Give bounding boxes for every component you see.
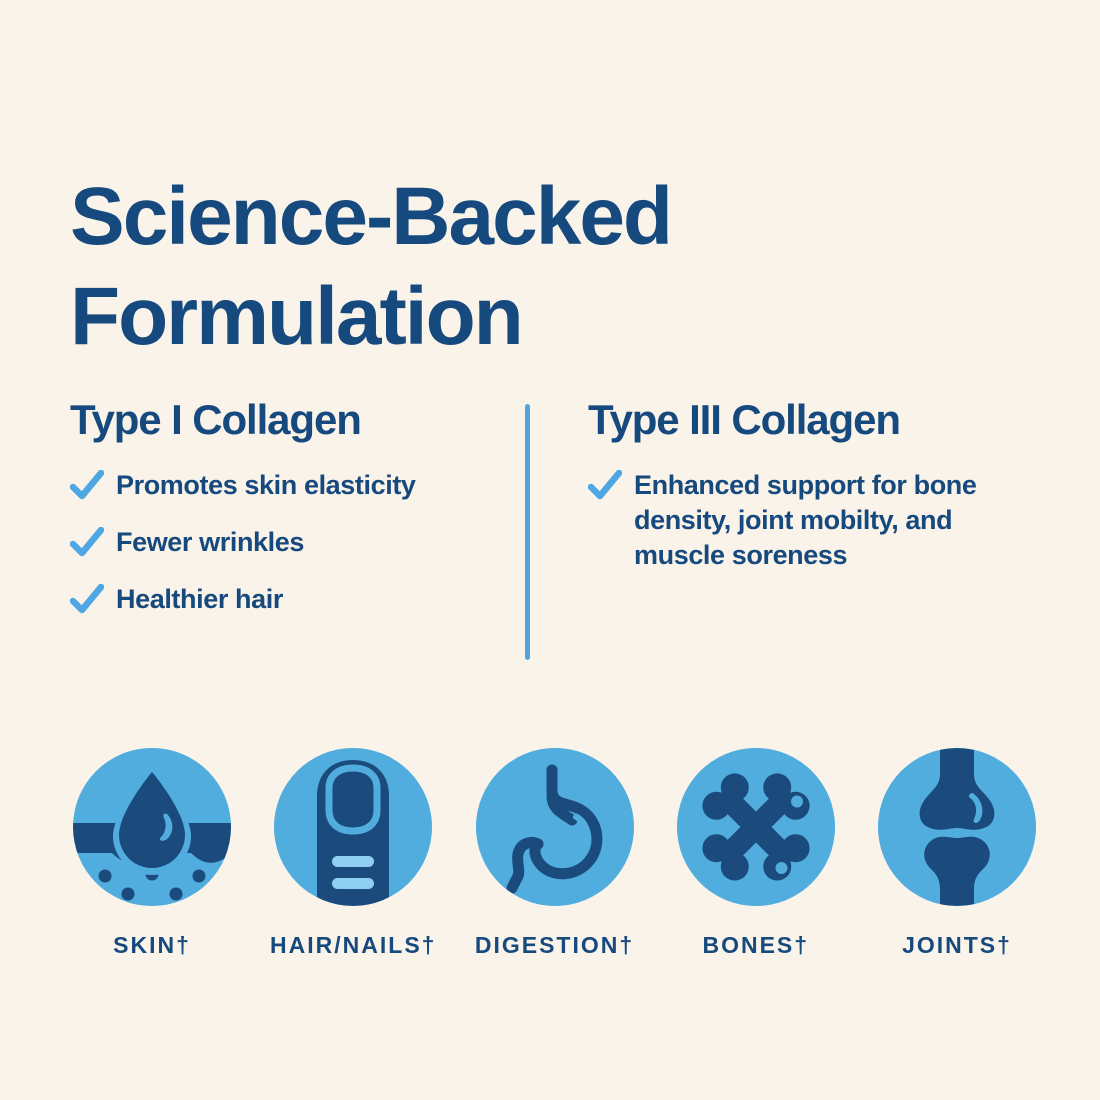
check-icon — [70, 470, 104, 502]
crossed-bones-icon — [677, 748, 835, 906]
benefit-label-bones: BONES† — [702, 932, 809, 959]
benefit-text: Healthier hair — [116, 582, 283, 617]
list-item: Fewer wrinkles — [70, 525, 507, 560]
page-title: Science-Backed Formulation — [70, 167, 950, 367]
fingernail-icon — [274, 748, 432, 906]
skin-droplet-icon — [73, 748, 231, 906]
column-heading-type-i: Type I Collagen — [70, 398, 507, 442]
benefit-text: Enhanced support for bone density, joint… — [634, 468, 994, 573]
list-item: Enhanced support for bone density, joint… — [588, 468, 1045, 573]
benefit-joints: JOINTS† — [867, 748, 1047, 959]
infographic-poster: Science-Backed Formulation Type I Collag… — [0, 0, 1100, 1100]
stomach-icon — [476, 748, 634, 906]
benefit-icon-row: SKIN† — [62, 748, 1047, 959]
check-icon — [70, 584, 104, 616]
knee-joint-icon — [878, 748, 1036, 906]
column-type-iii: Type III Collagen Enhanced support for b… — [530, 398, 1045, 666]
benefit-label-hair-nails: HAIR/NAILS† — [270, 932, 436, 959]
check-icon — [588, 470, 622, 502]
benefit-digestion: DIGESTION† — [465, 748, 645, 959]
benefit-text: Fewer wrinkles — [116, 525, 304, 560]
check-icon — [70, 527, 104, 559]
column-heading-type-iii: Type III Collagen — [588, 398, 1045, 442]
list-item: Healthier hair — [70, 582, 507, 617]
benefit-list-type-i: Promotes skin elasticity Fewer wrinkles — [70, 468, 507, 617]
list-item: Promotes skin elasticity — [70, 468, 507, 503]
collagen-columns: Type I Collagen Promotes skin elasticity — [70, 398, 1045, 666]
benefit-text: Promotes skin elasticity — [116, 468, 416, 503]
benefit-bones: BONES† — [666, 748, 846, 959]
benefit-label-joints: JOINTS† — [902, 932, 1012, 959]
benefit-skin: SKIN† — [62, 748, 242, 959]
benefit-label-skin: SKIN† — [113, 932, 191, 959]
column-type-i: Type I Collagen Promotes skin elasticity — [70, 398, 525, 666]
benefit-label-digestion: DIGESTION† — [475, 932, 634, 959]
benefit-list-type-iii: Enhanced support for bone density, joint… — [588, 468, 1045, 573]
benefit-hair-nails: HAIR/NAILS† — [263, 748, 443, 959]
